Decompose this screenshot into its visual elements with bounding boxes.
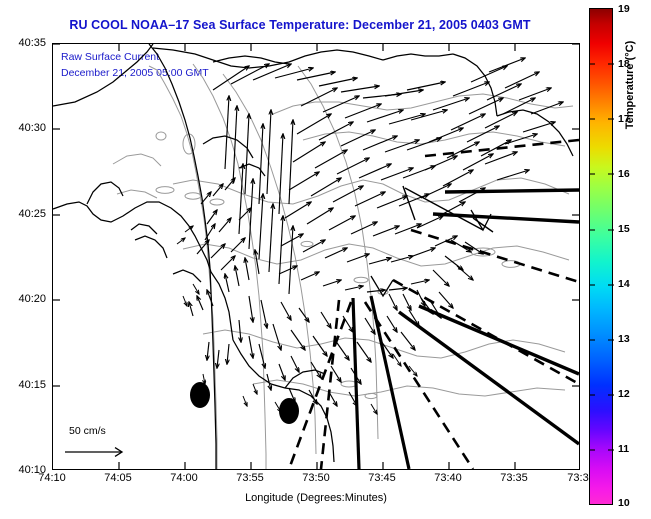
y-tick-label: 40:20 bbox=[0, 293, 46, 305]
scale-legend-arrow bbox=[61, 442, 171, 482]
x-tick-label: 73:55 bbox=[236, 472, 264, 484]
colorbar-tick-label: 14 bbox=[618, 278, 630, 290]
colorbar-label: Temperature (°C) bbox=[624, 0, 636, 175]
colorbar-tick-label: 12 bbox=[618, 388, 630, 400]
x-tick-label: 73:45 bbox=[368, 472, 396, 484]
page-title: RU COOL NOAA–17 Sea Surface Temperature:… bbox=[0, 18, 600, 32]
y-tick-label: 40:35 bbox=[0, 37, 46, 49]
x-tick-label: 73:3 bbox=[567, 472, 588, 484]
radar-station-markers bbox=[53, 44, 579, 469]
colorbar-tick-label: 10 bbox=[618, 497, 630, 509]
x-tick-label: 73:40 bbox=[434, 472, 462, 484]
station-marker bbox=[279, 398, 299, 424]
x-tick-label: 73:50 bbox=[302, 472, 330, 484]
y-tick-label: 40:15 bbox=[0, 379, 46, 391]
colorbar-tick-label: 11 bbox=[618, 443, 629, 455]
colorbar-tick-label: 15 bbox=[618, 223, 630, 235]
figure-canvas: RU COOL NOAA–17 Sea Surface Temperature:… bbox=[0, 0, 651, 519]
y-tick-label: 40:25 bbox=[0, 208, 46, 220]
station-marker bbox=[190, 382, 210, 408]
x-axis-label: Longitude (Degrees:Minutes) bbox=[52, 492, 580, 504]
colorbar-ticks bbox=[590, 9, 614, 506]
x-tick-label: 74:00 bbox=[170, 472, 198, 484]
plot-area: Raw Surface Current December 21, 2005 05… bbox=[52, 43, 580, 470]
colorbar-tick-label: 13 bbox=[618, 333, 630, 345]
x-tick-label: 73:35 bbox=[500, 472, 528, 484]
colorbar bbox=[589, 8, 613, 505]
scale-legend-label: 50 cm/s bbox=[69, 425, 106, 437]
y-tick-label: 40:30 bbox=[0, 122, 46, 134]
